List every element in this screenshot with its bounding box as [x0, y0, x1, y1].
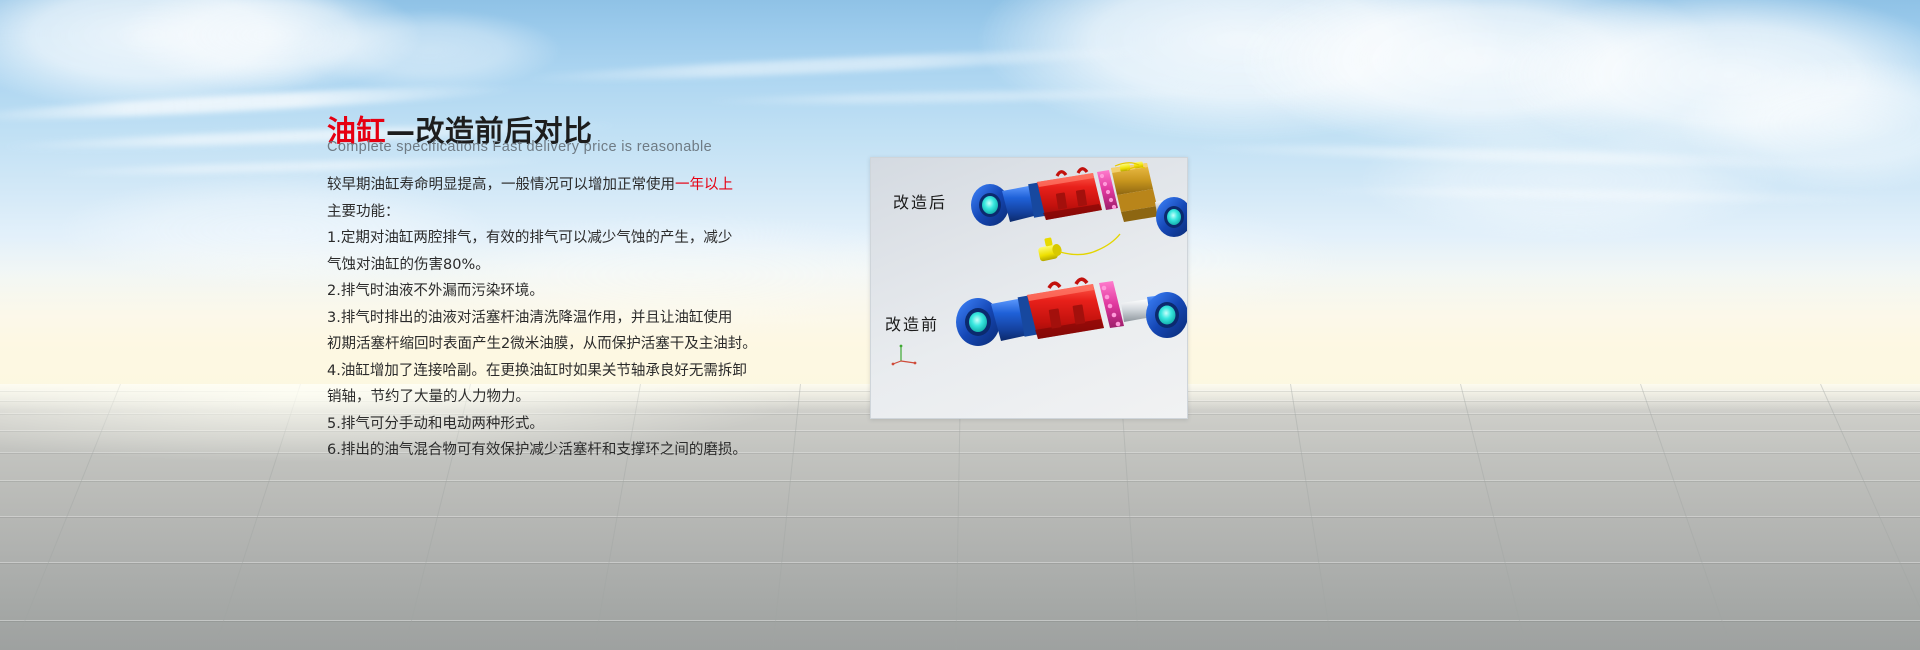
desc-line-6: 3.排气时排出的油液对活塞杆油清洗降温作用，并且让油缸使用 [327, 305, 797, 332]
banner-root: 油缸—改造前后对比 Complete specifications Fast d… [0, 0, 1920, 650]
cad-assembly-after [971, 161, 1188, 237]
desc-line-10: 5.排气可分手动和电动两种形式。 [327, 411, 797, 438]
label-before-modification: 改造前 [885, 311, 939, 335]
before-flange [1099, 281, 1124, 328]
desc-line-1-text: 较早期油缸寿命明显提高，一般情况可以增加正常使用 [327, 177, 675, 193]
desc-line-4: 气蚀对油缸的伤害80%。 [327, 252, 797, 279]
after-left-clevis [971, 184, 1009, 226]
label-after-modification: 改造后 [893, 189, 947, 213]
desc-line-1: 较早期油缸寿命明显提高，一般情况可以增加正常使用一年以上 [327, 172, 797, 199]
cad-assembly-before [956, 279, 1188, 346]
before-right-clevis [1146, 292, 1188, 338]
page-subtitle: Complete specifications Fast delivery pr… [327, 139, 712, 155]
desc-line-5: 2.排气时油液不外漏而污染环境。 [327, 278, 797, 305]
desc-line-1-emphasis: 一年以上 [675, 177, 733, 193]
desc-line-2: 主要功能： [327, 199, 797, 226]
desc-line-11: 6.排出的油气混合物可有效保护减少活塞杆和支撑环之间的磨损。 [327, 437, 797, 464]
xyz-axis-triad-icon [891, 340, 917, 366]
desc-line-9: 销轴，节约了大量的人力物力。 [327, 384, 797, 411]
feature-description: 较早期油缸寿命明显提高，一般情况可以增加正常使用一年以上 主要功能： 1.定期对… [327, 172, 797, 464]
desc-line-8: 4.油缸增加了连接哈副。在更换油缸时如果关节轴承良好无需拆卸 [327, 358, 797, 385]
product-comparison-image: 改造后 改造前 [870, 157, 1188, 419]
desc-line-7: 初期活塞杆缩回时表面产生2微米油膜，从而保护活塞干及主油封。 [327, 331, 797, 358]
after-manifold-block [1111, 163, 1160, 222]
banner-content: 油缸—改造前后对比 Complete specifications Fast d… [0, 0, 1920, 650]
desc-line-3: 1.定期对油缸两腔排气，有效的排气可以减少气蚀的产生，减少 [327, 225, 797, 252]
bleed-valve-assembly [1038, 234, 1120, 262]
